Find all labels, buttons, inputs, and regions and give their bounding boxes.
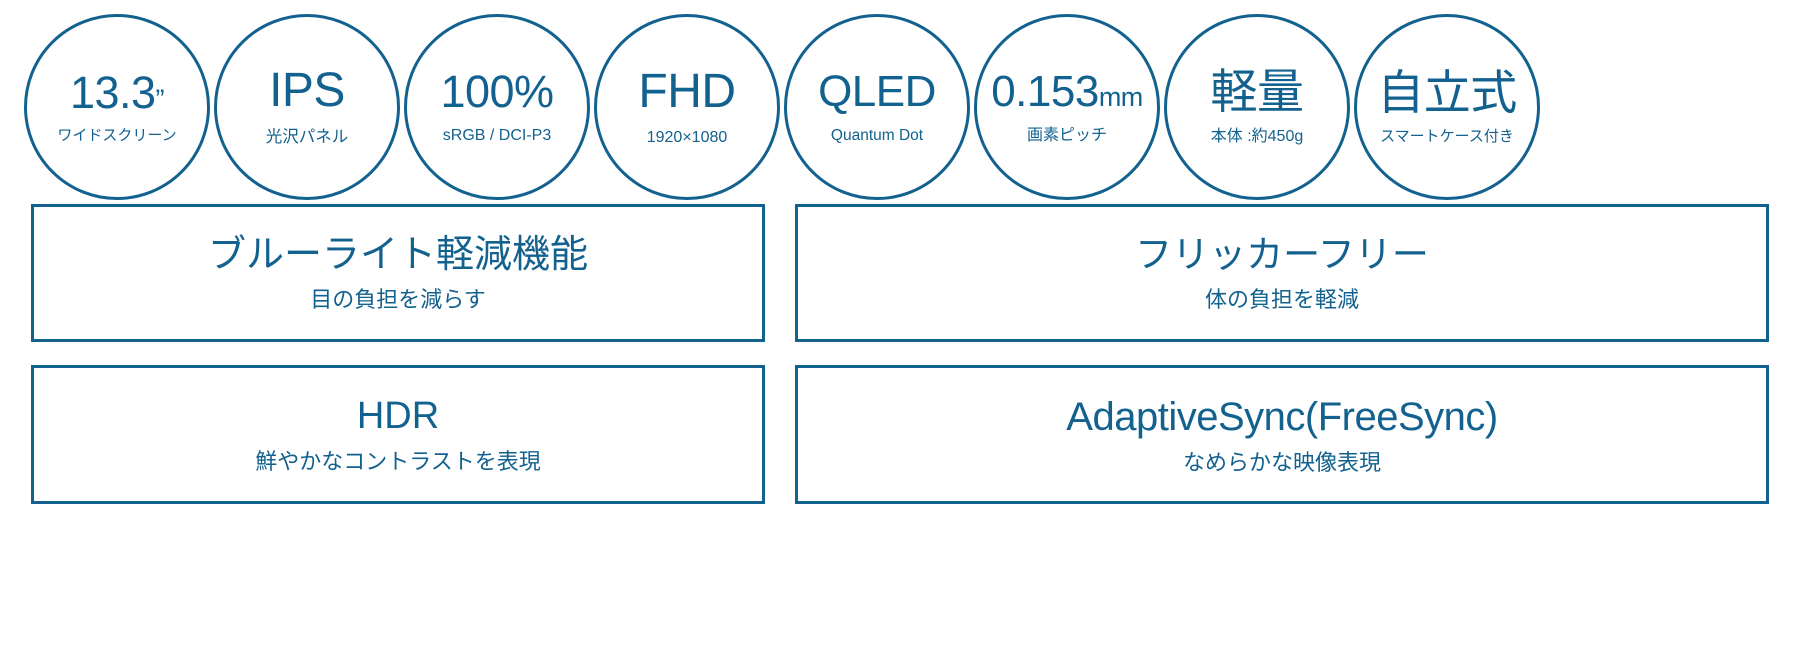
feature-title: フリッカーフリー [1135,234,1429,277]
feature-subtitle: なめらかな映像表現 [1183,450,1381,475]
badge-caption: 1920×1080 [647,129,728,147]
feature-subtitle: 目の負担を減らす [310,287,486,312]
badge-value: 100% [440,69,553,114]
badge-unit: mm [1099,82,1143,112]
feature-title: HDR [357,395,439,439]
badge-caption: 画素ピッチ [1027,127,1107,145]
feature-box-blue-light-reduction: ブルーライト軽減機能 目の負担を減らす [31,204,765,342]
feature-title: AdaptiveSync(FreeSync) [1066,394,1497,440]
spec-badge-weight: 軽量 本体 :約450g [1164,14,1350,200]
spec-badge-resolution: FHD 1920×1080 [594,14,780,200]
spec-badge-panel-type: IPS 光沢パネル [214,14,400,200]
badge-value: 自立式 [1377,69,1517,116]
spec-badge-pixel-pitch: 0.153mm 画素ピッチ [974,14,1160,200]
feature-grid: ブルーライト軽減機能 目の負担を減らす フリッカーフリー 体の負担を軽減 HDR… [31,204,1769,504]
feature-box-hdr: HDR 鮮やかなコントラストを表現 [31,365,765,504]
badge-caption: Quantum Dot [831,127,923,144]
badge-value: 13.3” [70,70,164,115]
spec-infographic: 13.3” ワイドスクリーン IPS 光沢パネル 100% sRGB / DCI… [0,0,1800,668]
badge-unit: ” [156,84,165,114]
badge-caption: 本体 :約450g [1211,128,1304,146]
feature-title: ブルーライト軽減機能 [208,234,588,278]
spec-badge-color-gamut: 100% sRGB / DCI-P3 [404,14,590,200]
badge-value: QLED [818,70,936,114]
badge-value: 軽量 [1211,68,1304,115]
spec-badge-screen-size: 13.3” ワイドスクリーン [24,14,210,200]
badge-row: 13.3” ワイドスクリーン IPS 光沢パネル 100% sRGB / DCI… [0,14,1800,200]
spec-badge-stand-type: 自立式 スマートケース付き [1354,14,1540,200]
feature-subtitle: 鮮やかなコントラストを表現 [255,449,541,474]
feature-box-adaptive-sync: AdaptiveSync(FreeSync) なめらかな映像表現 [795,365,1769,504]
badge-caption: sRGB / DCI-P3 [443,127,551,145]
badge-value: IPS [269,67,345,115]
badge-value: FHD [638,68,735,116]
badge-caption: 光沢パネル [266,128,349,146]
badge-caption: スマートケース付き [1380,129,1514,146]
feature-subtitle: 体の負担を軽減 [1205,287,1359,312]
feature-box-flicker-free: フリッカーフリー 体の負担を軽減 [795,204,1769,342]
badge-value: 0.153mm [991,70,1143,114]
spec-badge-backlight-tech: QLED Quantum Dot [784,14,970,200]
badge-caption: ワイドスクリーン [57,128,176,145]
